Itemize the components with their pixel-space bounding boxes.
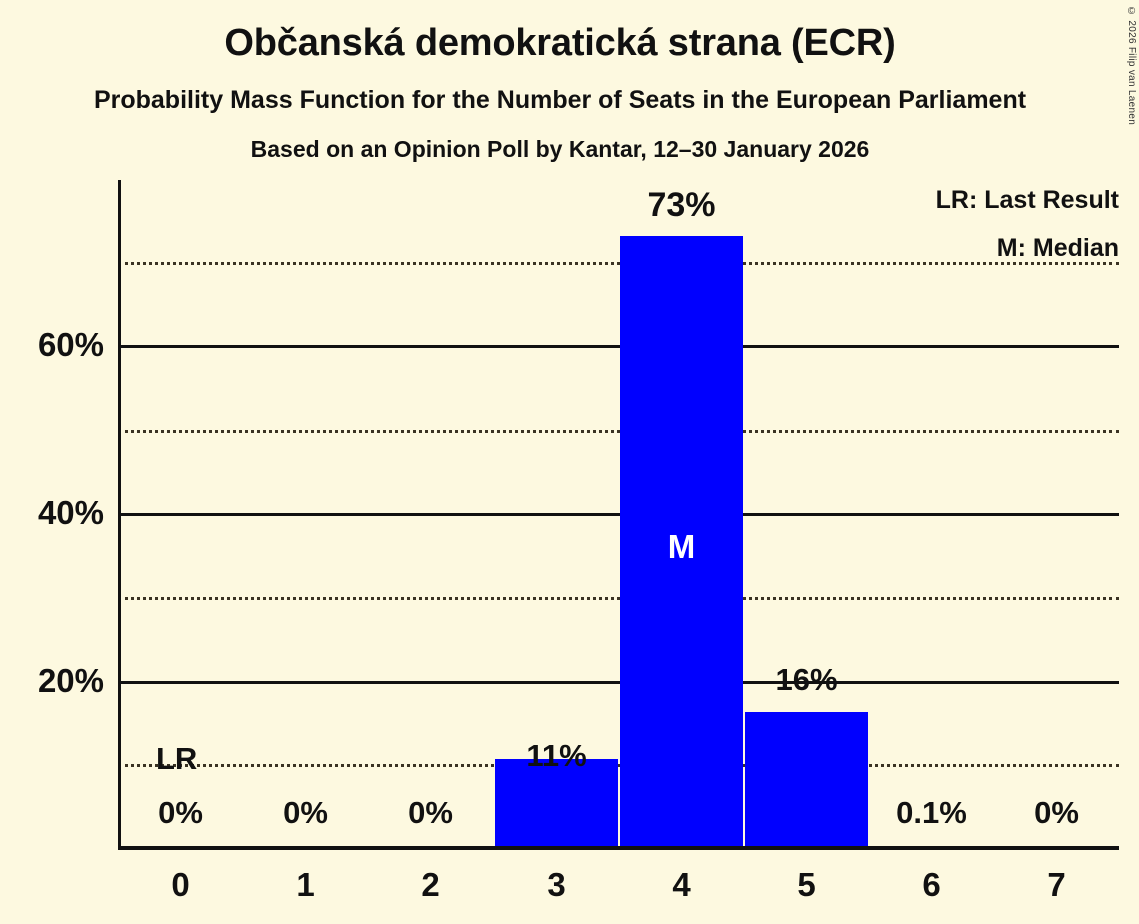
value-label-seat-2: 0% — [368, 795, 493, 831]
page-title: Občanská demokratická strana (ECR) — [0, 22, 1120, 65]
copyright-notice: © 2026 Filip van Laenen — [1126, 6, 1137, 125]
gridline-60 — [118, 345, 1119, 348]
gridline-70 — [118, 262, 1119, 265]
x-axis-tick-4: 4 — [619, 866, 744, 904]
value-label-seat-5: 16% — [744, 662, 869, 698]
gridline-40 — [118, 513, 1119, 516]
x-axis-tick-7: 7 — [994, 866, 1119, 904]
pmf-chart: Občanská demokratická strana (ECR) Proba… — [0, 0, 1139, 924]
legend-median: M: Median — [997, 234, 1119, 263]
chart-source-line: Based on an Opinion Poll by Kantar, 12–3… — [0, 136, 1120, 163]
y-axis-label-60: 60% — [0, 326, 104, 364]
last-result-marker: LR — [156, 741, 197, 777]
value-label-seat-7: 0% — [994, 795, 1119, 831]
chart-subtitle: Probability Mass Function for the Number… — [0, 86, 1120, 115]
x-axis-tick-0: 0 — [118, 866, 243, 904]
gridline-20 — [118, 681, 1119, 684]
value-label-seat-3: 11% — [494, 738, 619, 774]
x-axis-tick-2: 2 — [368, 866, 493, 904]
value-label-seat-6: 0.1% — [869, 795, 994, 831]
y-axis-label-40: 40% — [0, 494, 104, 532]
y-axis-label-20: 20% — [0, 662, 104, 700]
x-axis-tick-1: 1 — [243, 866, 368, 904]
x-axis-line — [118, 846, 1119, 850]
value-label-seat-0: 0% — [118, 795, 243, 831]
x-axis-tick-3: 3 — [494, 866, 619, 904]
y-axis-line — [118, 180, 121, 850]
value-label-seat-4: 73% — [619, 186, 744, 225]
bar-seat-5[interactable] — [745, 712, 868, 846]
legend-last-result: LR: Last Result — [936, 186, 1119, 215]
gridline-30 — [118, 597, 1119, 600]
gridline-50 — [118, 430, 1119, 433]
median-marker: M — [620, 528, 743, 566]
x-axis-tick-6: 6 — [869, 866, 994, 904]
value-label-seat-1: 0% — [243, 795, 368, 831]
x-axis-tick-5: 5 — [744, 866, 869, 904]
